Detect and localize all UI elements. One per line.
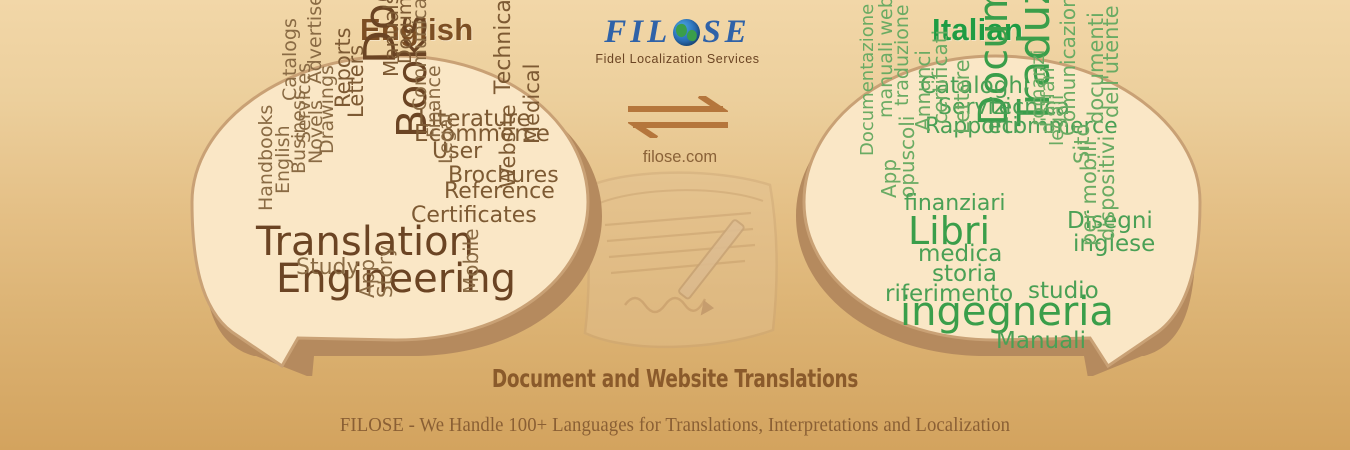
word-cloud-term: Novels xyxy=(308,100,325,164)
word-cloud-english: DocumentsBooksTranslationEngineeringManu… xyxy=(186,46,606,376)
word-cloud-term: documenti xyxy=(1087,12,1106,124)
caption-main: Document and Website Translations xyxy=(122,364,1229,393)
word-cloud-term: per mobili xyxy=(1080,140,1099,246)
word-cloud-term: Manuali xyxy=(996,331,1086,352)
word-cloud-term: English xyxy=(275,125,292,194)
bidirectional-arrows-icon xyxy=(628,96,728,138)
word-cloud-term: Story xyxy=(376,245,394,298)
site-url[interactable]: filose.com xyxy=(605,148,755,167)
word-cloud-term: Study xyxy=(296,258,360,278)
word-cloud-term: Mobile xyxy=(462,228,480,294)
word-cloud-italian: TraduzioneDocumenti.ingegneriaLibriCatal… xyxy=(790,46,1210,376)
word-cloud-term: Legal xyxy=(438,113,455,164)
word-cloud-term: Comunicazione xyxy=(1059,0,1077,136)
word-cloud-term: Website xyxy=(499,104,518,188)
logo-text-after: SE xyxy=(702,16,750,49)
word-cloud-term: Letters xyxy=(347,45,366,118)
word-cloud-term: Certificates xyxy=(411,206,537,226)
word-cloud-term: Lettere xyxy=(953,59,972,134)
logo-text-before: FIL xyxy=(604,16,671,49)
word-cloud-term: certificati xyxy=(931,30,949,124)
word-cloud-term: riferimento xyxy=(885,284,1013,305)
logo-tagline: Fidel Localization Services xyxy=(585,52,770,66)
caption-sub: FILOSE - We Handle 100+ Languages for Tr… xyxy=(27,415,1323,437)
word-cloud-term: manuali web xyxy=(878,0,895,118)
logo-wordmark: FIL SE xyxy=(585,16,770,49)
brand-logo[interactable]: FIL SE Fidel Localization Services xyxy=(585,16,770,66)
globe-icon xyxy=(673,19,700,46)
word-cloud-term: Medical xyxy=(523,64,542,144)
word-cloud-term: opuscoli xyxy=(898,116,916,198)
word-cloud-term: Documentazione xyxy=(860,4,877,156)
poster-canvas: English Italian FIL SE Fidel Localizatio… xyxy=(0,0,1350,450)
word-cloud-term: finanziari xyxy=(904,194,1006,214)
word-cloud-term: studio xyxy=(1028,281,1099,302)
word-cloud-term: Technical xyxy=(494,0,514,94)
word-cloud-term: Handbooks xyxy=(258,105,275,211)
